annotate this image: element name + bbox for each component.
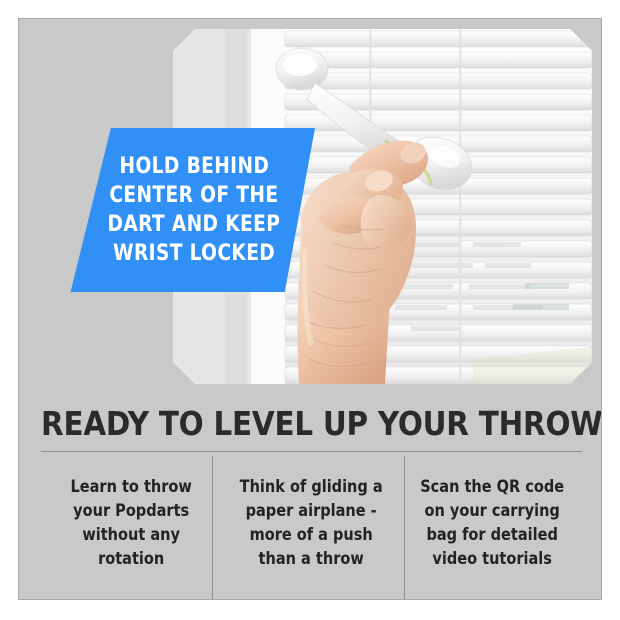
callout-line-4: WRIST LOCKED	[113, 239, 275, 268]
callout-text-block: HOLD BEHIND CENTER OF THE DART AND KEEP …	[63, 128, 315, 292]
tip-column-3: Scan the QR code on your carrying bag fo…	[402, 467, 582, 600]
callout-line-1: HOLD BEHIND	[119, 152, 269, 181]
instruction-callout: HOLD BEHIND CENTER OF THE DART AND KEEP …	[63, 128, 315, 292]
infographic-panel: HOLD BEHIND CENTER OF THE DART AND KEEP …	[18, 18, 602, 600]
callout-line-2: CENTER OF THE	[109, 181, 278, 210]
horizontal-divider	[41, 451, 582, 452]
section-headline: READY TO LEVEL UP YOUR THROW?	[41, 404, 576, 444]
tip-text-3: Scan the QR code on your carrying bag fo…	[416, 475, 568, 571]
tip-column-2: Think of gliding a paper airplane - more…	[221, 467, 401, 600]
tip-text-1: Learn to throw your Popdarts without any…	[55, 475, 207, 571]
tips-columns: Learn to throw your Popdarts without any…	[41, 467, 582, 600]
tip-column-1: Learn to throw your Popdarts without any…	[41, 467, 221, 600]
callout-line-3: DART AND KEEP	[108, 210, 281, 239]
tip-text-2: Think of gliding a paper airplane - more…	[235, 475, 387, 571]
